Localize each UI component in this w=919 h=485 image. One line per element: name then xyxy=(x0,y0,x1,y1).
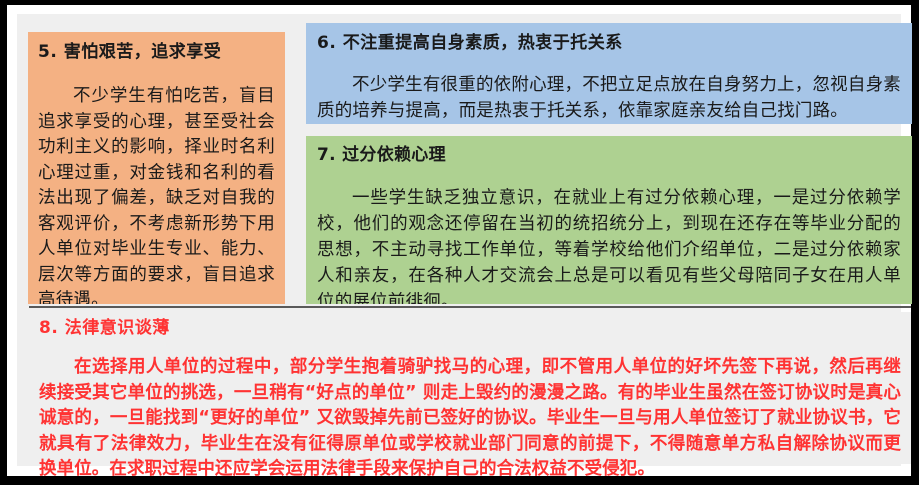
slide-paper: 5. 害怕艰苦，追求享受 不少学生有怕吃苦，盲目追求享受的心理，甚至受社会功利主… xyxy=(7,5,911,476)
panel-overreliance-body: 一些学生缺乏独立意识，在就业上有过分依赖心理，一是过分依赖学校，他们的观念还停留… xyxy=(317,185,901,304)
slide-frame: 5. 害怕艰苦，追求享受 不少学生有怕吃苦，盲目追求享受的心理，甚至受社会功利主… xyxy=(0,0,919,485)
panel-dependence-relations-title: 6. 不注重提高自身素质，热衷于托关系 xyxy=(317,31,901,55)
section-divider xyxy=(29,306,911,308)
panel-overreliance[interactable]: 7. 过分依赖心理 一些学生缺乏独立意识，在就业上有过分依赖心理，一是过分依赖学… xyxy=(306,136,912,304)
block-legal-awareness-body: 在选择用人单位的过程中，部分学生抱着骑驴找马的心理，即不管用人单位的好坏先签下再… xyxy=(39,355,901,483)
block-legal-awareness[interactable]: 8. 法律意识谈薄 在选择用人单位的过程中，部分学生抱着骑驴找马的心理，即不管用… xyxy=(29,312,911,464)
panel-dependence-relations[interactable]: 6. 不注重提高自身素质，热衷于托关系 不少学生有很重的依附心理，不把立足点放在… xyxy=(306,23,912,124)
panel-fear-hardship-body: 不少学生有怕吃苦，盲目追求享受的心理，甚至受社会功利主义的影响，择业时名利心理过… xyxy=(38,84,275,304)
block-legal-awareness-title: 8. 法律意识谈薄 xyxy=(39,315,901,341)
panel-dependence-relations-body: 不少学生有很重的依附心理，不把立足点放在自身努力上，忽视自身素质的培养与提高，而… xyxy=(317,72,901,124)
panel-fear-hardship-title: 5. 害怕艰苦，追求享受 xyxy=(38,40,275,64)
panel-fear-hardship[interactable]: 5. 害怕艰苦，追求享受 不少学生有怕吃苦，盲目追求享受的心理，甚至受社会功利主… xyxy=(28,32,285,304)
slide-canvas: 5. 害怕艰苦，追求享受 不少学生有怕吃苦，盲目追求享受的心理，甚至受社会功利主… xyxy=(17,14,901,466)
panel-overreliance-title: 7. 过分依赖心理 xyxy=(317,143,901,167)
